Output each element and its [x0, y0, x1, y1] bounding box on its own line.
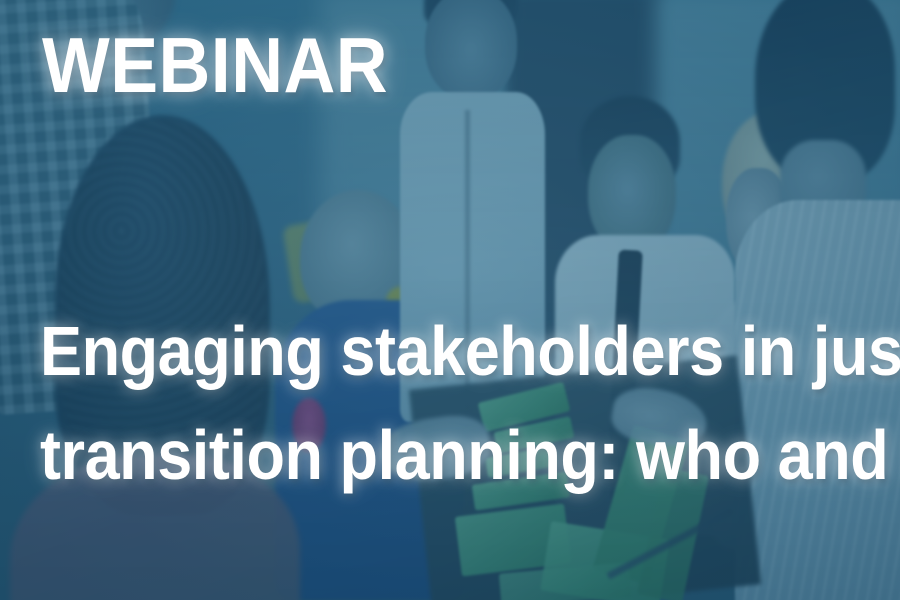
webinar-banner: WEBINAR Engaging stakeholders in just tr… [0, 0, 900, 600]
page-title-line-2: transition planning: who and how? [40, 404, 796, 508]
page-title-line-1: Engaging stakeholders in just [40, 300, 796, 404]
text-layer: WEBINAR Engaging stakeholders in just tr… [0, 0, 900, 600]
page-title: Engaging stakeholders in just transition… [40, 300, 796, 507]
eyebrow-label: WEBINAR [42, 26, 388, 104]
